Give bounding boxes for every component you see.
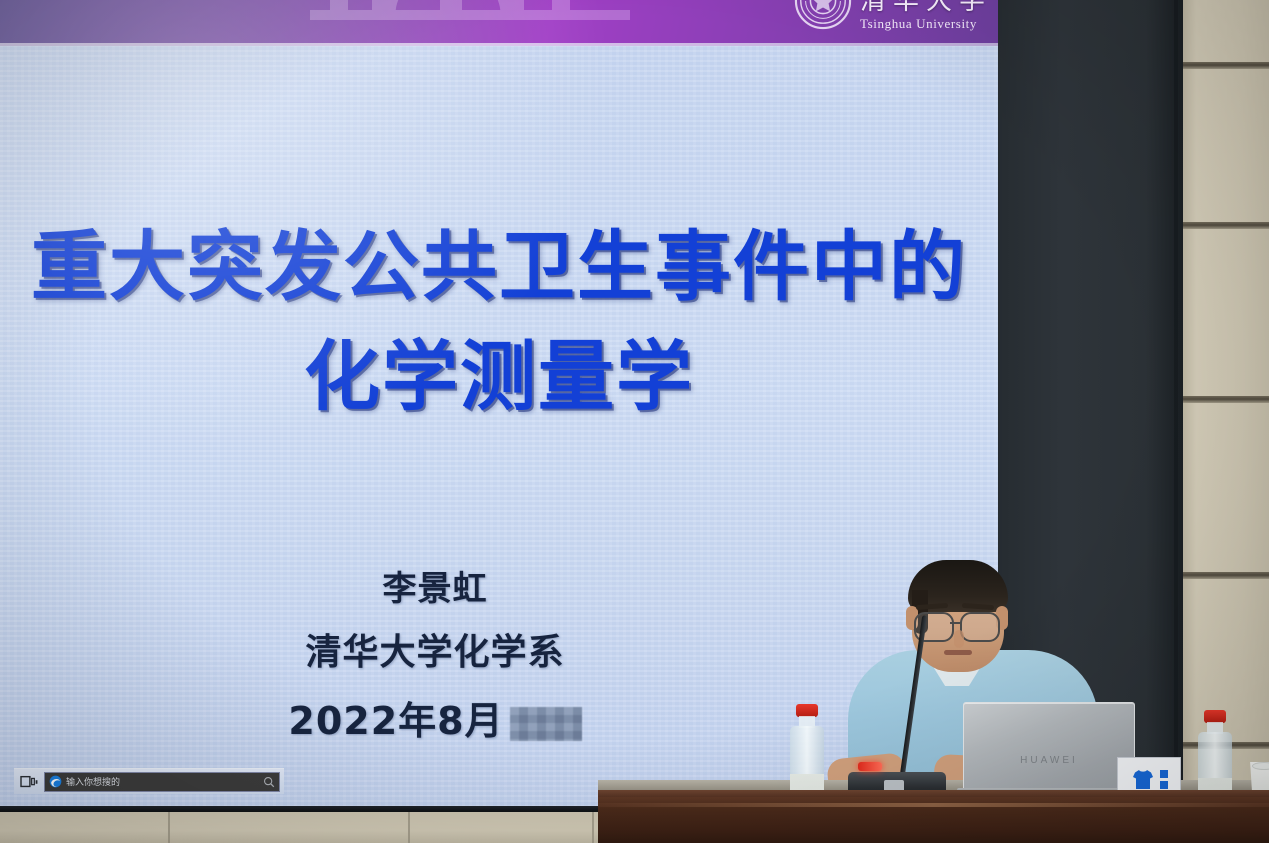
table-edge-highlight [598, 803, 1269, 807]
sign-bar-group [1160, 770, 1168, 789]
task-view-icon[interactable] [18, 772, 40, 792]
windows-taskbar[interactable]: 输入你想搜的 [14, 768, 284, 794]
search-icon[interactable] [263, 776, 275, 788]
presenter-mouth [944, 650, 972, 655]
water-bottle-right [1198, 710, 1232, 800]
presenter-nose [954, 630, 964, 648]
search-input-text: 输入你想搜的 [66, 775, 259, 788]
laptop: HUAWEI [963, 702, 1135, 794]
slide-title: 重大突发公共卫生事件中的 化学测量学 [0, 212, 998, 432]
microphone-led-indicator [858, 762, 882, 771]
search-input[interactable]: 输入你想搜的 [44, 772, 280, 792]
banner-underline [0, 43, 998, 46]
glasses-bridge [950, 622, 962, 624]
wall-panel-seam [592, 812, 594, 843]
presenter-affiliation: 清华大学化学系 [0, 616, 870, 690]
laptop-brand-label: HUAWEI [964, 755, 1134, 766]
slide-banner: 清华大学 Tsinghua University [0, 0, 998, 46]
tsinghua-seal-icon [794, 0, 852, 30]
banner-university-en: Tsinghua University [860, 17, 992, 30]
glasses-lens-right [960, 612, 1000, 642]
presenter-name: 李景虹 [0, 562, 870, 616]
slide-title-line-2: 化学测量学 [0, 322, 998, 432]
tsinghua-gate-icon [300, 0, 640, 46]
wall-panel-seam [1180, 62, 1269, 69]
wall-panel-below-screen [0, 812, 640, 843]
wall-panel-seam [168, 812, 170, 843]
water-bottle-left [790, 704, 824, 800]
paper-cup-rim [1252, 762, 1269, 770]
banner-university-cn: 清华大学 [860, 0, 992, 14]
wall-panel-seam [1180, 396, 1269, 403]
slide-title-line-1: 重大突发公共卫生事件中的 [0, 212, 998, 322]
wall-panel-seam [1180, 572, 1269, 579]
edge-icon [49, 775, 62, 788]
wall-panel-seam [408, 812, 410, 843]
sign-bar [1160, 781, 1168, 789]
slide-date: 2022年8月 [288, 690, 503, 752]
t-shirt-icon [1131, 768, 1155, 792]
banner-logo: 清华大学 Tsinghua University [794, 0, 992, 30]
wall-panel-seam [1180, 222, 1269, 229]
slide-subtitle: 李景虹 清华大学化学系 2022年8月 [0, 562, 870, 752]
slide-date-row: 2022年8月 [0, 690, 870, 752]
sign-bar [1160, 770, 1168, 778]
date-redaction-blur [510, 707, 582, 741]
lecture-hall-scene: 清华大学 Tsinghua University 重大突发公共卫生事件中的 化学… [0, 0, 1269, 843]
